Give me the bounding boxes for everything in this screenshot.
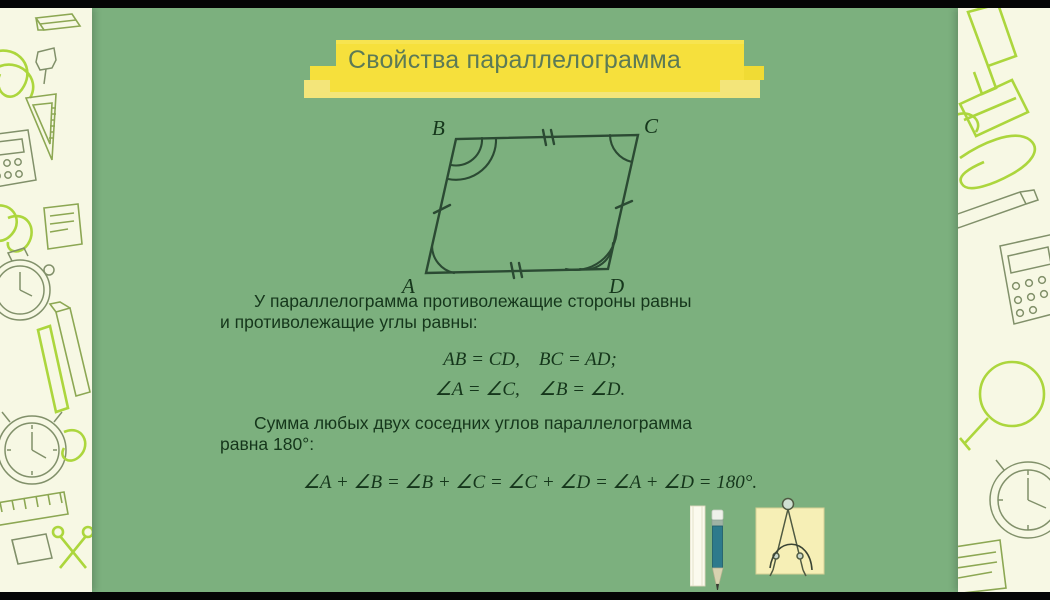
desk-objects-illustration: [690, 496, 870, 592]
parallelogram-svg: B C A D: [380, 113, 680, 298]
slide-root: Свойства параллелограмма: [0, 0, 1050, 600]
decor-border-right: [958, 8, 1050, 592]
desk-objects-svg: [690, 496, 870, 592]
body-content: У параллелограмма противолежащие стороны…: [220, 291, 840, 494]
paragraph-2: Сумма любых двух соседних углов параллел…: [220, 413, 840, 455]
decor-border-left: [0, 8, 92, 592]
pen-icon: [712, 510, 723, 590]
formula-adjacent-angle-sum: ∠A + ∠B = ∠B + ∠C = ∠C + ∠D = ∠A + ∠D = …: [220, 471, 840, 494]
slide-stage: Свойства параллелограмма: [0, 8, 1050, 592]
doodle-pattern-right: [958, 8, 1050, 592]
formula-equal-angles: ∠A = ∠C, ∠B = ∠D.: [220, 378, 840, 401]
parallelogram-outline: [426, 135, 638, 273]
slide-title-banner: Свойства параллелограмма: [296, 30, 796, 104]
vertex-label-B: B: [432, 116, 445, 140]
page-title: Свойства параллелограмма: [348, 46, 768, 75]
vertex-label-C: C: [644, 114, 659, 138]
paragraph-1-line-2: и противолежащие углы равны:: [220, 312, 840, 333]
paragraph-1: У параллелограмма противолежащие стороны…: [220, 291, 840, 333]
doodle-pattern-left: [0, 12, 92, 592]
formula-equal-sides: AB = CD, BC = AD;: [220, 349, 840, 371]
paragraph-1-line-1: У параллелограмма противолежащие стороны…: [220, 291, 840, 312]
paragraph-2-line-1: Сумма любых двух соседних углов параллел…: [220, 413, 840, 434]
letterbox-top: [0, 0, 1050, 8]
paragraph-2-line-2: равна 180°:: [220, 434, 840, 455]
parallelogram-figure: B C A D: [380, 113, 680, 303]
letterbox-bottom: [0, 592, 1050, 600]
ruler-icon: [690, 506, 705, 586]
